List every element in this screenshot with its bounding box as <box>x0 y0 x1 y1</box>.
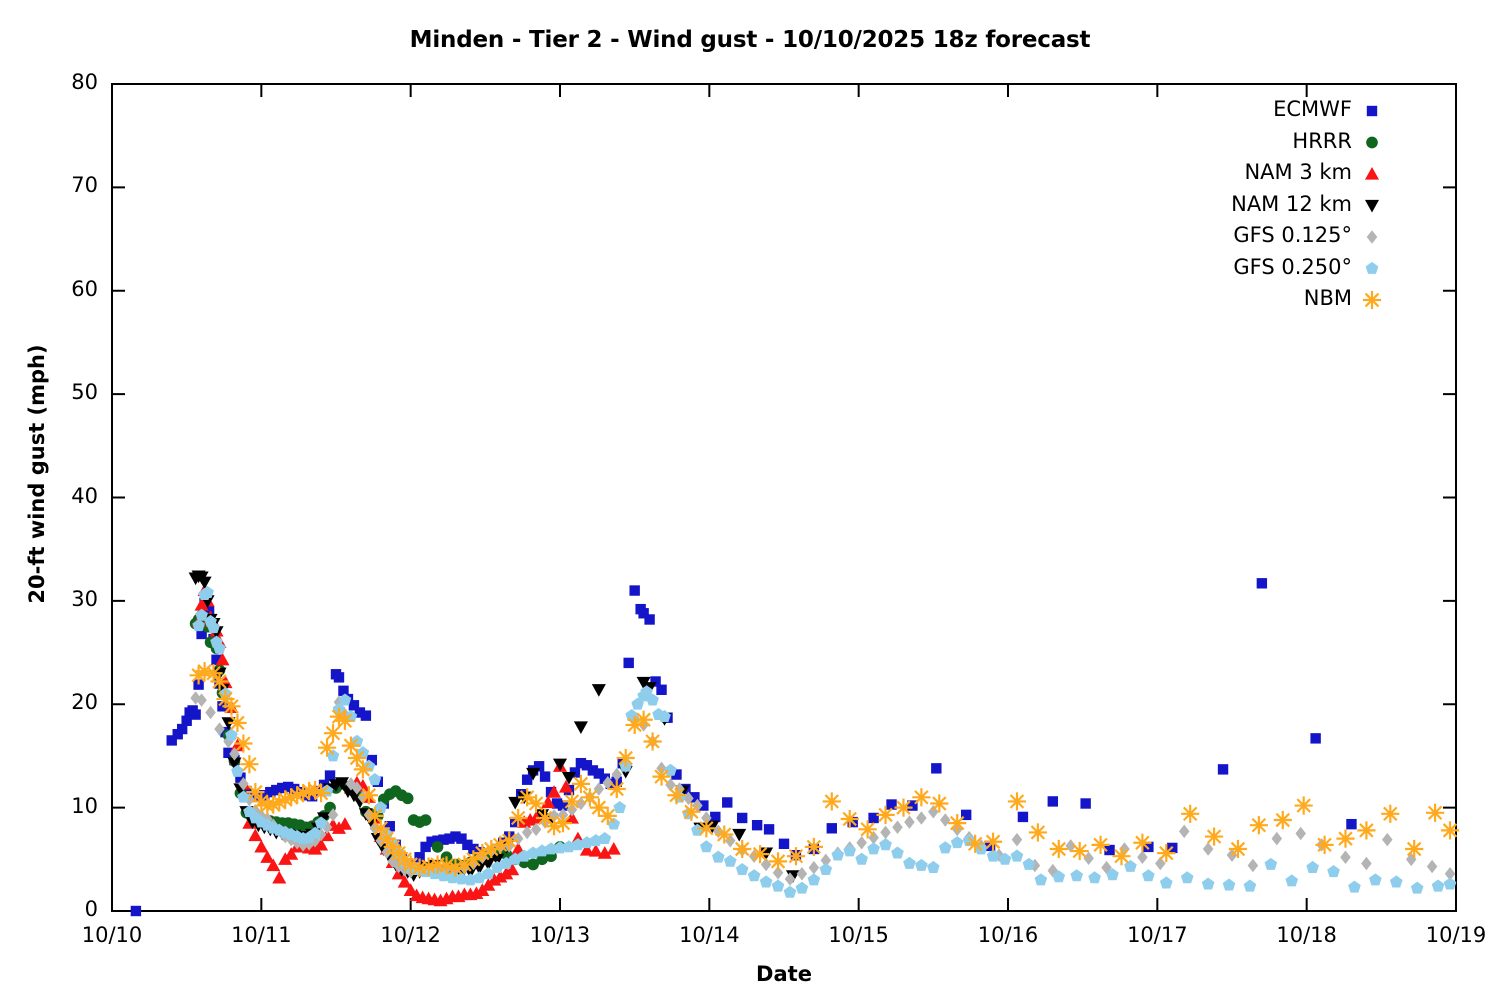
data-point <box>1357 821 1375 839</box>
data-point <box>272 871 286 884</box>
data-point <box>1088 871 1101 883</box>
legend-diamond-icon <box>1367 230 1378 244</box>
data-point <box>1348 881 1361 893</box>
data-point <box>916 811 927 825</box>
data-point <box>1035 873 1048 885</box>
data-point <box>880 826 891 840</box>
data-point <box>915 859 928 871</box>
data-point <box>131 906 141 916</box>
legend-label-gfs-0-125: GFS 0.125° <box>1132 223 1352 247</box>
data-point <box>700 840 713 852</box>
x-tick-label: 10/19 <box>1396 923 1500 947</box>
data-point <box>1444 877 1457 889</box>
data-point <box>1382 833 1393 847</box>
data-point <box>760 875 773 887</box>
data-point <box>598 832 611 844</box>
data-point <box>1008 792 1026 810</box>
data-point <box>1223 879 1236 891</box>
data-point <box>1091 836 1109 854</box>
data-point <box>1441 821 1459 839</box>
wind-gust-chart: Minden - Tier 2 - Wind gust - 10/10/2025… <box>0 0 1500 1000</box>
data-point <box>1023 858 1036 870</box>
data-point <box>228 714 246 732</box>
data-point <box>1361 857 1372 871</box>
data-point <box>784 886 797 898</box>
data-point <box>939 841 952 853</box>
data-points <box>131 570 1459 916</box>
data-point <box>234 734 252 752</box>
data-point <box>737 813 747 823</box>
data-point <box>508 797 522 810</box>
x-tick-label: 10/17 <box>1097 923 1217 947</box>
data-point <box>1181 805 1199 823</box>
data-point <box>599 807 617 825</box>
data-point <box>823 792 841 810</box>
data-point <box>710 812 720 822</box>
data-point <box>736 863 749 875</box>
data-point <box>1137 850 1148 864</box>
data-point <box>336 712 354 730</box>
data-point <box>240 755 258 773</box>
y-tick-label: 80 <box>38 70 98 94</box>
x-tick-label: 10/18 <box>1247 923 1367 947</box>
data-point <box>420 814 432 826</box>
legend-triangle-down-icon <box>1365 200 1379 213</box>
data-point <box>312 784 330 802</box>
data-point <box>572 775 590 793</box>
data-point <box>1112 847 1130 865</box>
data-point <box>764 824 774 834</box>
data-point <box>1340 850 1351 864</box>
data-point <box>1248 859 1259 873</box>
data-point <box>779 839 789 849</box>
x-axis-label: Date <box>112 962 1456 986</box>
x-tick-label: 10/15 <box>799 923 919 947</box>
series-nam-12-km <box>189 570 800 882</box>
data-point <box>554 814 572 832</box>
legend-asterisk-icon <box>1363 291 1381 309</box>
data-point <box>664 764 677 776</box>
x-tick-label: 10/11 <box>201 923 321 947</box>
data-point <box>248 829 262 842</box>
data-point <box>904 815 915 829</box>
data-point <box>1012 833 1023 847</box>
data-point <box>1205 827 1223 845</box>
data-point <box>733 840 751 858</box>
data-point <box>827 823 837 833</box>
data-point <box>1071 842 1089 860</box>
data-point <box>1432 880 1445 892</box>
legend-markers <box>1363 106 1381 309</box>
data-point <box>629 585 639 595</box>
data-point <box>369 773 382 785</box>
data-point <box>1405 840 1423 858</box>
data-point <box>712 851 725 863</box>
data-point <box>722 797 732 807</box>
data-point <box>1018 812 1028 822</box>
data-point <box>748 869 761 881</box>
data-point <box>1272 832 1283 846</box>
legend-pentagon-icon <box>1366 262 1379 274</box>
data-point <box>254 840 268 853</box>
data-point <box>1295 827 1306 841</box>
y-tick-label: 0 <box>38 897 98 921</box>
data-point <box>1411 882 1424 894</box>
data-point <box>809 861 820 875</box>
data-point <box>1427 860 1438 874</box>
data-point <box>1202 877 1215 889</box>
data-point <box>667 786 685 804</box>
data-point <box>617 749 635 767</box>
x-tick-label: 10/13 <box>500 923 620 947</box>
data-point <box>1083 852 1094 866</box>
data-point <box>1336 830 1354 848</box>
data-point <box>1327 865 1340 877</box>
data-point <box>1306 861 1319 873</box>
data-point <box>1310 733 1320 743</box>
data-point <box>607 818 620 830</box>
legend-label-ecmwf: ECMWF <box>1132 97 1352 121</box>
data-point <box>931 763 941 773</box>
data-point <box>594 782 605 796</box>
data-point <box>563 792 581 810</box>
data-point <box>903 857 916 869</box>
data-point <box>892 821 903 835</box>
data-point <box>940 813 951 827</box>
data-point <box>855 853 868 865</box>
data-point <box>623 658 633 668</box>
y-tick-label: 10 <box>38 794 98 818</box>
data-point <box>930 794 948 812</box>
data-point <box>772 880 785 892</box>
data-point <box>1295 796 1313 814</box>
data-point <box>1229 840 1247 858</box>
data-point <box>724 855 737 867</box>
data-point <box>1142 869 1155 881</box>
data-point <box>1274 811 1292 829</box>
data-point <box>715 825 733 843</box>
data-point <box>1426 804 1444 822</box>
data-point <box>894 799 912 817</box>
data-point <box>951 836 964 848</box>
legend-triangle-up-icon <box>1365 167 1379 180</box>
data-point <box>635 711 653 729</box>
data-point <box>1244 880 1257 892</box>
data-point <box>1315 836 1333 854</box>
data-point <box>797 867 808 881</box>
data-point <box>500 832 518 850</box>
data-point <box>856 836 867 850</box>
data-point <box>966 835 984 853</box>
x-tick-label: 10/12 <box>351 923 471 947</box>
data-point <box>652 768 670 786</box>
data-point <box>682 803 700 821</box>
data-point <box>1029 823 1047 841</box>
data-point <box>509 809 527 827</box>
data-point <box>1265 858 1278 870</box>
data-point <box>769 852 787 870</box>
x-tick-label: 10/14 <box>649 923 769 947</box>
data-point <box>876 806 894 824</box>
data-point <box>1346 819 1356 829</box>
data-point <box>1257 578 1267 588</box>
data-point <box>1160 876 1173 888</box>
data-point <box>643 732 661 750</box>
data-point <box>210 672 228 690</box>
data-point <box>912 788 930 806</box>
data-point <box>1048 796 1058 806</box>
data-point <box>361 710 371 720</box>
data-point <box>843 844 856 856</box>
data-point <box>1011 850 1024 862</box>
x-tick-label: 10/16 <box>948 923 1068 947</box>
data-point <box>527 794 545 812</box>
data-point <box>859 820 877 838</box>
data-point <box>1133 834 1151 852</box>
data-point <box>325 770 335 780</box>
data-point <box>1181 871 1194 883</box>
legend-square-icon <box>1367 106 1377 116</box>
data-point <box>432 841 444 853</box>
data-point <box>190 709 200 719</box>
data-point <box>891 846 904 858</box>
data-point <box>1203 842 1214 856</box>
data-point <box>1250 816 1268 834</box>
series-gfs-0-125 <box>190 691 1455 885</box>
data-point <box>984 833 1002 851</box>
data-point <box>787 847 805 865</box>
data-point <box>540 771 550 781</box>
data-point <box>1070 869 1083 881</box>
data-point <box>1369 873 1382 885</box>
data-point <box>819 863 832 875</box>
data-point <box>752 820 762 830</box>
y-axis-label: 20-ft wind gust (mph) <box>25 274 49 674</box>
data-point <box>222 697 240 715</box>
data-point <box>697 819 715 837</box>
data-point <box>1381 805 1399 823</box>
x-tick-label: 10/10 <box>52 923 172 947</box>
data-point <box>205 706 216 720</box>
legend-circle-icon <box>1366 137 1378 149</box>
data-point <box>354 760 372 778</box>
data-point <box>1285 874 1298 886</box>
legend-label-nam-3-km: NAM 3 km <box>1132 160 1352 184</box>
data-point <box>574 721 588 734</box>
data-point <box>334 672 344 682</box>
legend-label-nbm: NBM <box>1132 286 1352 310</box>
data-point <box>644 614 654 624</box>
data-point <box>1390 875 1403 887</box>
y-tick-label: 20 <box>38 690 98 714</box>
data-point <box>1157 844 1175 862</box>
data-point <box>1050 840 1068 858</box>
data-point <box>927 861 940 873</box>
data-point <box>805 838 823 856</box>
data-point <box>796 882 809 894</box>
data-point <box>841 810 859 828</box>
data-point <box>607 842 621 855</box>
legend-label-gfs-0-250: GFS 0.250° <box>1132 255 1352 279</box>
series-nbm <box>190 662 1460 877</box>
data-point <box>1080 798 1090 808</box>
legend-label-nam-12-km: NAM 12 km <box>1132 192 1352 216</box>
data-point <box>1218 764 1228 774</box>
y-tick-label: 70 <box>38 173 98 197</box>
data-point <box>879 838 892 850</box>
legend-label-hrrr: HRRR <box>1132 129 1352 153</box>
data-point <box>751 845 769 863</box>
data-point <box>592 684 606 697</box>
data-point <box>831 849 844 861</box>
data-point <box>608 780 626 798</box>
data-point <box>613 801 626 813</box>
data-point <box>656 685 666 695</box>
data-point <box>327 749 340 761</box>
data-point <box>402 792 414 804</box>
data-point <box>1179 825 1190 839</box>
data-point <box>948 814 966 832</box>
data-point <box>360 786 378 804</box>
data-point <box>867 842 880 854</box>
data-point <box>808 873 821 885</box>
